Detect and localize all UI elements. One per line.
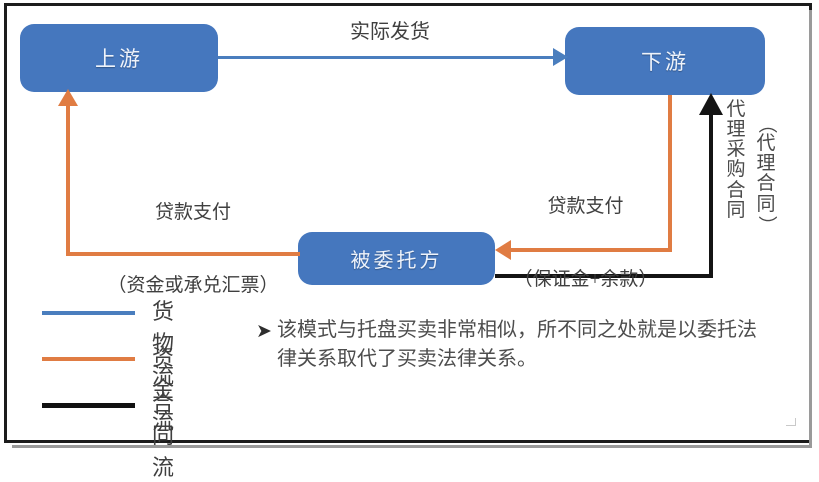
diagram-canvas: 上游 下游 被委托方 实际发货 贷款支付 （资金或承兑汇票） 贷款支付 （保证金… bbox=[0, 0, 819, 451]
edge-label-payment-right: 贷款支付 （保证金+余款） bbox=[478, 146, 693, 341]
capital-flow-left-arrowhead-icon bbox=[58, 89, 78, 106]
note-text: 该模式与托盘买卖非常相似，所不同之处就是以委托法律关系取代了买卖法律关系。 bbox=[277, 316, 766, 374]
node-downstream[interactable]: 下游 bbox=[565, 27, 765, 95]
edge-label-goods: 实际发货 bbox=[300, 20, 480, 46]
node-upstream[interactable]: 上游 bbox=[20, 24, 218, 92]
note-block: ➤ 该模式与托盘买卖非常相似，所不同之处就是以委托法律关系取代了买卖法律关系。 bbox=[256, 316, 766, 374]
edge-label-payment-right-line2: （保证金+余款） bbox=[478, 268, 693, 292]
edge-label-payment-right-line1: 贷款支付 bbox=[478, 195, 693, 219]
edge-label-payment-left-line1: 贷款支付 bbox=[78, 201, 308, 225]
contract-flow-vertical bbox=[709, 112, 713, 277]
legend-swatch-capital-flow bbox=[42, 357, 135, 361]
legend-swatch-contract-flow bbox=[42, 403, 135, 408]
edge-label-payment-left-line2: （资金或承兑汇票） bbox=[78, 274, 308, 298]
corner-mark bbox=[786, 418, 796, 426]
slide-frame: 上游 下游 被委托方 实际发货 贷款支付 （资金或承兑汇票） 贷款支付 （保证金… bbox=[0, 0, 819, 451]
legend-swatch-goods-flow bbox=[42, 311, 135, 315]
legend-label-contract-flow: 合同流 bbox=[152, 386, 175, 482]
capital-flow-left-vertical bbox=[66, 104, 70, 254]
edge-label-agency-procurement-contract: 代理采购合同 bbox=[724, 100, 748, 221]
contract-flow-arrowhead-icon bbox=[699, 93, 723, 115]
bullet-arrow-icon: ➤ bbox=[256, 318, 272, 346]
goods-flow-line bbox=[218, 56, 558, 59]
edge-label-agency-contract: （代理合同） bbox=[754, 114, 778, 235]
goods-flow-arrowhead-icon bbox=[553, 48, 568, 66]
node-entrusted-party[interactable]: 被委托方 bbox=[298, 232, 495, 285]
